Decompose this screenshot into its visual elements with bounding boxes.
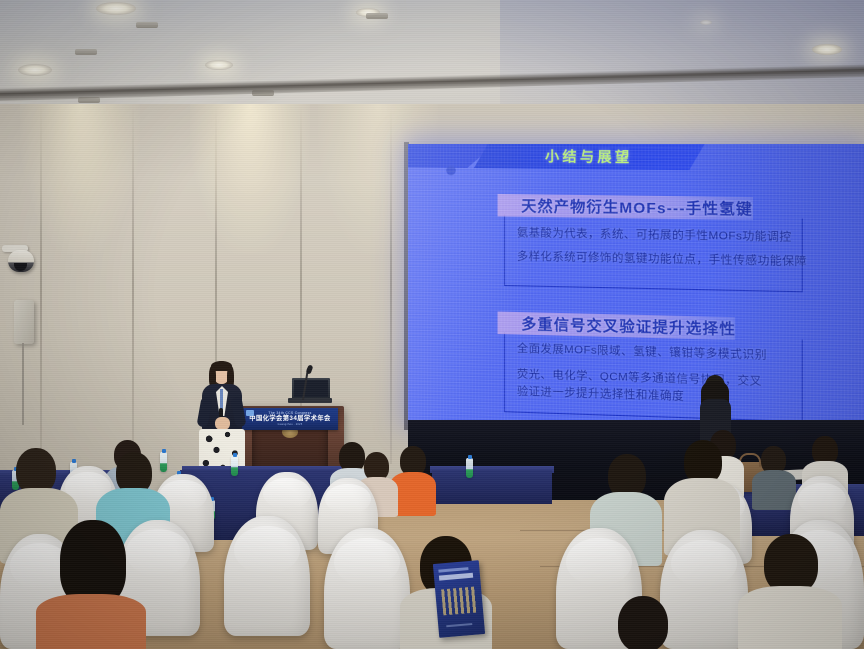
booklet-top-line	[438, 567, 468, 573]
ceiling-downlight	[18, 64, 52, 76]
ceiling-vent	[75, 49, 97, 55]
event-banner-subtitle: Guangzhou · 2025	[278, 423, 303, 426]
booklet-bottom-line	[446, 623, 472, 627]
section-1-heading-bar: 天然产物衍生MOFs---手性氢键	[498, 194, 753, 220]
audience-member	[752, 446, 796, 506]
audience-member	[600, 596, 684, 649]
laptop-screen	[294, 380, 328, 397]
booklet-cover-art	[441, 587, 477, 616]
conference-room-photo: 小结与展望 天然产物衍生MOFs---手性氢键 氨基酸为代表，系统、可拓展的手性…	[0, 0, 864, 649]
ceiling-downlight	[700, 20, 712, 25]
slide-section-1: 天然产物衍生MOFs---手性氢键 氨基酸为代表，系统、可拓展的手性MOFs功能…	[498, 194, 808, 295]
water-bottle	[466, 458, 473, 478]
ceiling-downlight	[812, 44, 842, 55]
audience-head	[618, 596, 668, 649]
laptop-base	[288, 398, 332, 403]
ceiling-color-tint	[500, 0, 864, 120]
audience-body	[752, 470, 796, 510]
presentation-screen: 小结与展望 天然产物衍生MOFs---手性氢键 氨基酸为代表，系统、可拓展的手性…	[408, 144, 864, 424]
ceiling-downlight	[205, 60, 233, 70]
audience-body	[36, 594, 146, 649]
slide-content: 天然产物衍生MOFs---手性氢键 氨基酸为代表，系统、可拓展的手性MOFs功能…	[408, 144, 864, 424]
section-1-heading: 天然产物衍生MOFs---手性氢键	[521, 195, 753, 220]
audience-chair	[224, 516, 310, 636]
right-table-skirt	[432, 470, 552, 504]
wall-light-glow	[20, 104, 140, 254]
presenter-lanyard	[220, 389, 223, 409]
audience-body	[738, 586, 842, 649]
ceiling-vent	[366, 13, 388, 19]
event-banner: The 34th CCS Congress 中国化学会第34届学术年会 Guan…	[242, 408, 338, 430]
water-bottle	[231, 456, 238, 476]
bottle-cap	[233, 453, 237, 457]
conference-program-booklet	[433, 560, 485, 638]
audience-member	[738, 534, 842, 649]
audience-head	[764, 534, 818, 594]
wall-speaker-icon	[14, 300, 34, 344]
speaker-cable	[22, 343, 24, 425]
audience-member	[36, 520, 146, 649]
ceiling-downlight	[96, 2, 136, 15]
booklet-title-line	[439, 573, 473, 581]
slide-surface: 小结与展望 天然产物衍生MOFs---手性氢键 氨基酸为代表，系统、可拓展的手性…	[408, 144, 864, 424]
bottle-cap	[468, 455, 472, 459]
slide-section-2: 多重信号交叉验证提升选择性 全面发展MOFs限域、氢键、镶钳等多模式识别 荧光、…	[498, 312, 808, 424]
ceiling-vent	[136, 22, 158, 28]
audience-chair	[324, 528, 410, 649]
wall-light-glow	[190, 104, 310, 254]
